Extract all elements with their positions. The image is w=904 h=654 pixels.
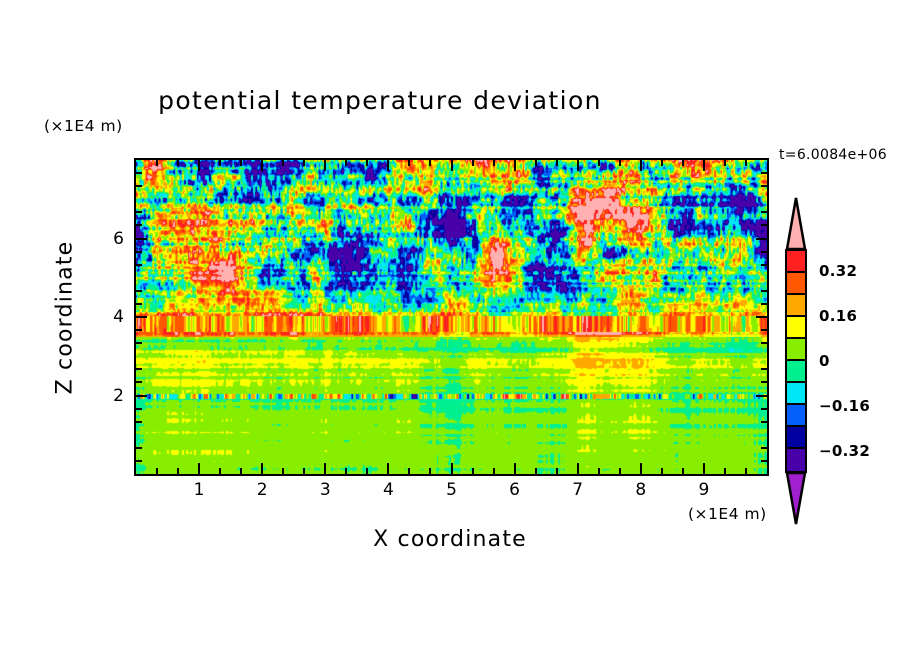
colorbar-segment xyxy=(787,383,805,405)
x-axis-tick xyxy=(640,160,642,171)
y-axis-minor-tick xyxy=(761,290,767,292)
y-axis-minor-tick xyxy=(761,303,767,305)
x-axis-tick-label: 2 xyxy=(257,480,268,500)
y-axis-minor-tick xyxy=(761,381,767,383)
x-axis-tick xyxy=(703,463,705,474)
colorbar-tick-label: −0.16 xyxy=(819,397,870,415)
colorbar-gradient xyxy=(785,249,807,473)
x-axis-minor-tick xyxy=(745,468,747,474)
y-axis-minor-tick xyxy=(761,172,767,174)
y-axis-minor-tick xyxy=(136,447,142,449)
y-axis-minor-tick xyxy=(761,329,767,331)
colorbar-tick-label: −0.32 xyxy=(819,442,870,460)
y-axis-minor-tick xyxy=(761,185,767,187)
x-axis-tick xyxy=(577,160,579,171)
colorbar-over-arrow xyxy=(785,196,807,251)
y-axis-tick xyxy=(136,316,147,318)
x-axis-tick xyxy=(451,160,453,171)
x-axis-minor-tick xyxy=(177,160,179,166)
y-axis-minor-tick xyxy=(761,368,767,370)
x-axis-minor-tick xyxy=(493,468,495,474)
x-axis-minor-tick xyxy=(345,468,347,474)
x-axis-tick-label: 6 xyxy=(509,480,520,500)
y-axis-minor-tick xyxy=(136,460,142,462)
x-axis-minor-tick xyxy=(219,468,221,474)
y-axis-minor-tick xyxy=(761,264,767,266)
colorbar-segment xyxy=(787,295,805,317)
x-axis-tick-label: 9 xyxy=(698,480,709,500)
x-axis-minor-tick xyxy=(661,160,663,166)
x-axis-minor-tick xyxy=(429,160,431,166)
x-axis-minor-tick xyxy=(598,468,600,474)
x-axis-tick xyxy=(261,463,263,474)
x-axis-minor-tick xyxy=(535,468,537,474)
x-axis-minor-tick xyxy=(745,160,747,166)
colorbar-segment xyxy=(787,427,805,449)
y-axis-tick xyxy=(136,395,147,397)
y-axis-tick xyxy=(136,238,147,240)
y-axis-tick xyxy=(756,395,767,397)
colorbar-segment xyxy=(787,339,805,361)
x-axis-tick xyxy=(324,463,326,474)
x-axis-tick xyxy=(514,160,516,171)
x-axis-tick-label: 7 xyxy=(572,480,583,500)
y-axis-minor-tick xyxy=(761,447,767,449)
colorbar-under-arrow xyxy=(785,471,807,526)
colorbar: 0.320.160−0.16−0.32 xyxy=(779,196,899,526)
y-axis-minor-tick xyxy=(136,408,142,410)
x-axis-minor-tick xyxy=(493,160,495,166)
x-axis-tick xyxy=(387,160,389,171)
colorbar-segment xyxy=(787,449,805,471)
x-axis-minor-tick xyxy=(282,160,284,166)
x-axis-tick xyxy=(387,463,389,474)
x-axis-minor-tick xyxy=(366,468,368,474)
x-axis-minor-tick xyxy=(240,468,242,474)
x-axis-tick xyxy=(577,463,579,474)
x-axis-minor-tick xyxy=(408,160,410,166)
y-axis-tick xyxy=(756,238,767,240)
x-axis-tick xyxy=(640,463,642,474)
x-axis-minor-tick xyxy=(408,468,410,474)
y-axis-minor-tick xyxy=(136,381,142,383)
y-axis-minor-tick xyxy=(136,264,142,266)
x-axis-minor-tick xyxy=(303,468,305,474)
y-axis-tick xyxy=(756,316,767,318)
x-axis-minor-tick xyxy=(682,468,684,474)
y-axis-minor-tick xyxy=(136,185,142,187)
x-axis-minor-tick xyxy=(556,160,558,166)
y-axis-minor-tick xyxy=(761,251,767,253)
x-axis-tick-label: 4 xyxy=(383,480,394,500)
colorbar-segment xyxy=(787,317,805,339)
y-axis-minor-tick xyxy=(761,421,767,423)
x-axis-minor-tick xyxy=(156,160,158,166)
colorbar-segment xyxy=(787,273,805,295)
y-axis-minor-tick xyxy=(761,408,767,410)
x-axis-tick-label: 8 xyxy=(635,480,646,500)
x-axis-minor-tick xyxy=(240,160,242,166)
x-axis-minor-tick xyxy=(598,160,600,166)
y-axis-minor-tick xyxy=(136,290,142,292)
colorbar-segment xyxy=(787,361,805,383)
x-axis-minor-tick xyxy=(472,160,474,166)
y-axis-minor-tick xyxy=(136,421,142,423)
y-axis-minor-tick xyxy=(136,342,142,344)
colorbar-tick-label: 0.16 xyxy=(819,307,857,325)
x-axis-tick-label: 3 xyxy=(320,480,331,500)
x-axis-tick-label: 5 xyxy=(446,480,457,500)
x-axis-minor-tick xyxy=(556,468,558,474)
colorbar-segment xyxy=(787,251,805,273)
y-axis-minor-tick xyxy=(136,224,142,226)
y-axis-minor-tick xyxy=(761,211,767,213)
x-axis-minor-tick xyxy=(177,468,179,474)
y-axis-minor-tick xyxy=(136,251,142,253)
y-axis-minor-tick xyxy=(136,172,142,174)
y-axis-minor-tick xyxy=(136,211,142,213)
x-axis-minor-tick xyxy=(303,160,305,166)
x-axis-minor-tick xyxy=(682,160,684,166)
x-axis-minor-tick xyxy=(429,468,431,474)
y-axis-minor-tick xyxy=(761,224,767,226)
x-axis-tick xyxy=(198,160,200,171)
y-axis-tick-label: 2 xyxy=(98,386,124,406)
y-axis-minor-tick xyxy=(761,460,767,462)
colorbar-segment xyxy=(787,405,805,427)
x-axis-tick xyxy=(324,160,326,171)
x-axis-minor-tick xyxy=(724,468,726,474)
x-axis-tick xyxy=(451,463,453,474)
colorbar-tick-label: 0 xyxy=(819,352,830,370)
x-axis-tick xyxy=(514,463,516,474)
y-axis-minor-tick xyxy=(136,329,142,331)
y-axis-tick-label: 6 xyxy=(98,229,124,249)
x-axis-minor-tick xyxy=(156,468,158,474)
x-axis-minor-tick xyxy=(472,468,474,474)
x-axis-tick-label: 1 xyxy=(194,480,205,500)
y-axis-minor-tick xyxy=(136,303,142,305)
x-axis-tick xyxy=(198,463,200,474)
axis-decorations: 123456789246 xyxy=(0,0,904,654)
x-axis-minor-tick xyxy=(366,160,368,166)
colorbar-tick-label: 0.32 xyxy=(819,262,857,280)
x-axis-minor-tick xyxy=(535,160,537,166)
x-axis-minor-tick xyxy=(724,160,726,166)
y-axis-minor-tick xyxy=(136,368,142,370)
x-axis-minor-tick xyxy=(345,160,347,166)
y-axis-minor-tick xyxy=(761,342,767,344)
x-axis-tick xyxy=(703,160,705,171)
x-axis-minor-tick xyxy=(619,468,621,474)
x-axis-minor-tick xyxy=(282,468,284,474)
x-axis-minor-tick xyxy=(661,468,663,474)
x-axis-minor-tick xyxy=(219,160,221,166)
x-axis-tick xyxy=(261,160,263,171)
y-axis-tick-label: 4 xyxy=(98,307,124,327)
x-axis-minor-tick xyxy=(619,160,621,166)
